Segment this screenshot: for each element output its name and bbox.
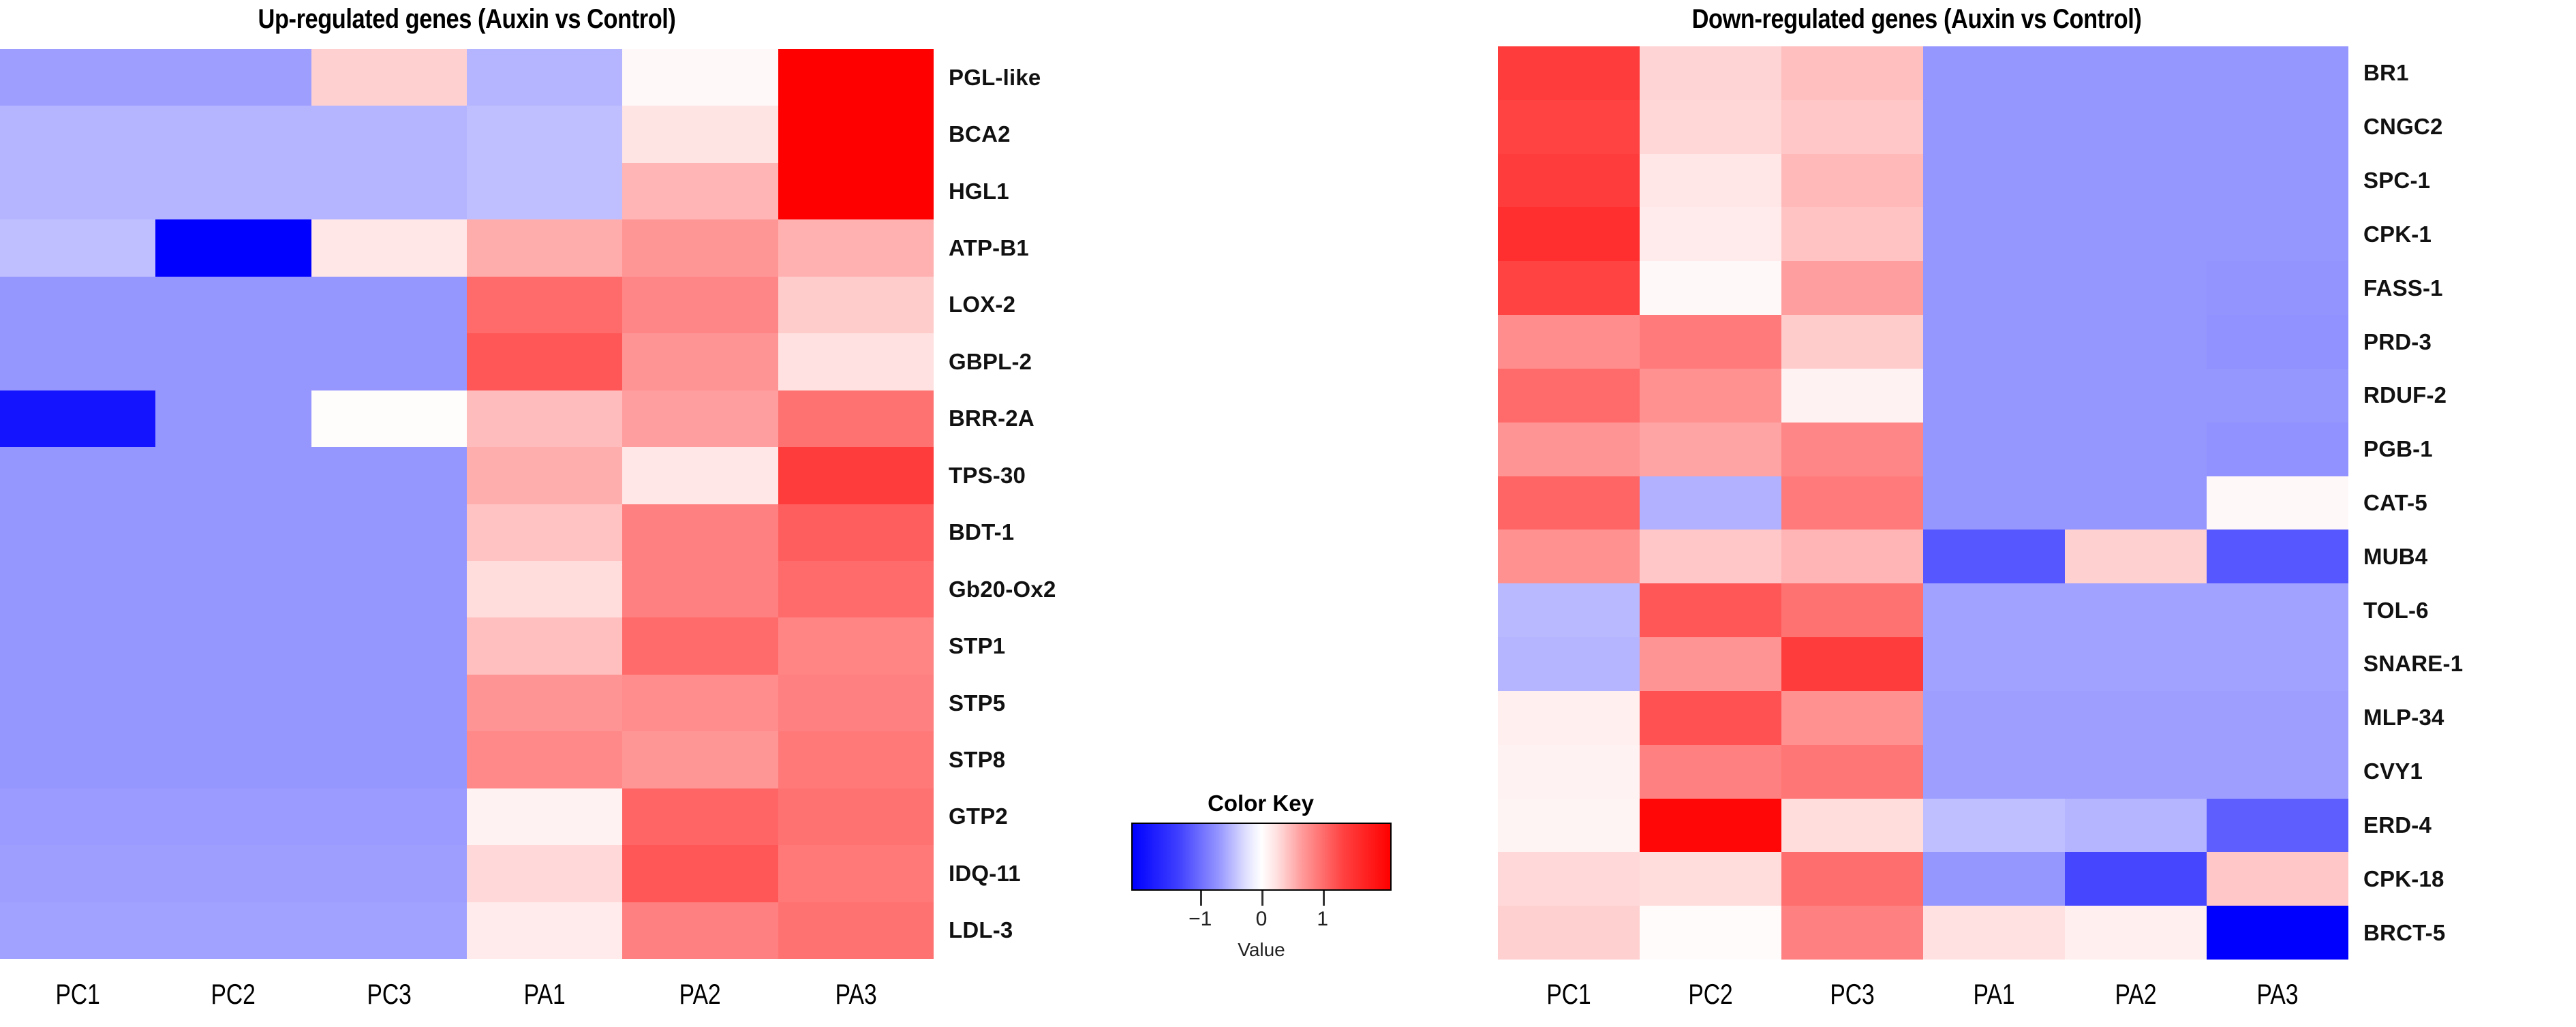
heatmap-cell [2065,476,2207,530]
row-label: CAT-5 [2363,476,2575,530]
heatmap-cell [1923,369,2065,423]
heatmap-cell [2207,423,2348,476]
color-key-tick-labels: −101 [1131,908,1392,935]
heatmap-cell [1640,46,1781,100]
color-key-tick [1261,891,1263,906]
heatmap-cell [155,845,311,902]
heatmap-cell [778,219,934,276]
heatmap-cell [0,902,155,959]
heatmap-cell [622,788,778,845]
heatmap-cell [155,49,311,106]
heatmap-cell [1498,261,1640,315]
heatmap-cell [1498,100,1640,154]
heatmap-cell [2207,261,2348,315]
heatmap-cell [622,561,778,617]
heatmap-cell [311,333,467,390]
heatmap-cell [2065,745,2207,799]
heatmap-cell [467,447,622,504]
heatmap-cell [311,163,467,219]
heatmap-cell [311,902,467,959]
heatmap-cell [155,447,311,504]
heatmap-cell [1781,100,1923,154]
heatmap-cell [622,106,778,162]
row-label: HGL1 [949,163,1153,219]
heatmap-cell [155,788,311,845]
heatmap-cell [1640,369,1781,423]
row-label: PRD-3 [2363,315,2575,369]
heatmap-cell [467,163,622,219]
heatmap-cell [1923,207,2065,261]
color-key-title: Color Key [1118,791,1404,816]
heatmap-cell [1640,745,1781,799]
heatmap-cell [0,675,155,731]
heatmap-cell [0,333,155,390]
column-label: PC2 [1654,970,1767,1018]
heatmap-cell [467,617,622,674]
column-label: PA2 [2079,970,2192,1018]
heatmap-cell [155,390,311,447]
heatmap-cell [1498,207,1640,261]
heatmap-cell [1498,745,1640,799]
heatmap-cell [0,163,155,219]
column-label: PA1 [1937,970,2051,1018]
heatmap-cell [778,788,934,845]
color-key-ticks [1131,891,1392,907]
heatmap-cell [1640,476,1781,530]
heatmap-cell [2065,530,2207,583]
heatmap-cell [467,788,622,845]
heatmap-cell [0,561,155,617]
color-key-gradient-bar [1131,823,1392,891]
heatmap-cell [2207,207,2348,261]
heatmap-cell [155,617,311,674]
heatmap-cell [0,106,155,162]
row-label: CVY1 [2363,745,2575,799]
heatmap-cell [1498,906,1640,960]
row-label: TOL-6 [2363,583,2575,637]
row-label: STP5 [949,675,1153,731]
heatmap-cell [622,902,778,959]
heatmap-cell [155,277,311,333]
heatmap-cell [2207,476,2348,530]
heatmap-cell [2207,583,2348,637]
heatmap-cell [1781,906,1923,960]
heatmap-cell [778,675,934,731]
heatmap-cell [467,561,622,617]
heatmap-cell [1640,691,1781,745]
heatmap-cell [467,219,622,276]
heatmap-grid-down-regulated [1498,46,2348,960]
heatmap-cell [0,49,155,106]
heatmap-cell [155,163,311,219]
color-key-tick-label: 0 [1256,908,1268,931]
column-labels-down-regulated: PC1PC2PC3PA1PA2PA3 [1498,970,2348,1018]
heatmap-cell [1640,799,1781,853]
heatmap-cell [0,617,155,674]
heatmap-cell [1781,691,1923,745]
heatmap-cell [778,106,934,162]
heatmap-cell [1923,423,2065,476]
row-label: MLP-34 [2363,691,2575,745]
column-label: PC2 [171,970,296,1018]
heatmap-cell [1923,637,2065,691]
row-label: Gb20-Ox2 [949,561,1153,617]
heatmap-cell [1781,583,1923,637]
heatmap-cell [1781,369,1923,423]
heatmap-cell [1923,46,2065,100]
heatmap-cell [2065,369,2207,423]
heatmap-cell [2065,154,2207,208]
heatmap-cell [2065,423,2207,476]
heatmap-cell [2207,637,2348,691]
heatmap-cell [155,333,311,390]
heatmap-cell [1640,100,1781,154]
row-label: FASS-1 [2363,261,2575,315]
column-label: PC3 [326,970,451,1018]
heatmap-cell [1923,261,2065,315]
heatmap-cell [2065,100,2207,154]
heatmap-cell [2065,207,2207,261]
heatmap-cell [2065,46,2207,100]
heatmap-cell [2065,261,2207,315]
heatmap-cell [1640,530,1781,583]
heatmap-cell [1498,46,1640,100]
heatmap-cell [622,504,778,561]
heatmap-cell [1781,261,1923,315]
row-label: SNARE-1 [2363,637,2575,691]
heatmap-cell [155,561,311,617]
heatmap-cell [2065,691,2207,745]
row-label: CPK-1 [2363,207,2575,261]
heatmap-cell [1923,852,2065,906]
heatmap-cell [0,731,155,788]
column-label: PC1 [1512,970,1625,1018]
heatmap-cell [311,106,467,162]
heatmap-cell [778,390,934,447]
heatmap-cell [2207,154,2348,208]
heatmap-cell [1923,691,2065,745]
heatmap-cell [155,219,311,276]
row-label: ERD-4 [2363,799,2575,853]
heatmap-cell [1498,369,1640,423]
heatmap-cell [778,845,934,902]
row-label: PGB-1 [2363,423,2575,476]
heatmap-cell [1498,423,1640,476]
column-label: PA3 [793,970,918,1018]
heatmap-cell [1781,423,1923,476]
row-label: BRR-2A [949,390,1153,447]
heatmap-cell [311,788,467,845]
heatmap-cell [1498,583,1640,637]
heatmap-cell [1781,207,1923,261]
column-labels-up-regulated: PC1PC2PC3PA1PA2PA3 [0,970,934,1018]
heatmap-cell [1781,745,1923,799]
row-label: BDT-1 [949,504,1153,561]
heatmap-cell [622,617,778,674]
column-label: PC3 [1796,970,1909,1018]
row-label: ATP-B1 [949,219,1153,276]
row-labels-down-regulated: BR1CNGC2SPC-1CPK-1FASS-1PRD-3RDUF-2PGB-1… [2363,46,2575,960]
heatmap-cell [155,106,311,162]
heatmap-cell [155,675,311,731]
heatmap-cell [778,333,934,390]
column-label: PA2 [638,970,763,1018]
heatmap-cell [311,447,467,504]
heatmap-cell [467,333,622,390]
row-label: TPS-30 [949,447,1153,504]
heatmap-cell [467,277,622,333]
heatmap-cell [311,561,467,617]
heatmap-cell [622,163,778,219]
heatmap-cell [467,731,622,788]
heatmap-cell [2207,852,2348,906]
heatmap-cell [467,504,622,561]
heatmap-cell [2207,799,2348,853]
heatmap-cell [1923,100,2065,154]
row-label: MUB4 [2363,530,2575,583]
heatmap-cell [2065,799,2207,853]
heatmap-cell [1923,906,2065,960]
heatmap-cell [622,49,778,106]
heatmap-cell [155,504,311,561]
heatmap-cell [1640,423,1781,476]
heatmap-cell [1923,530,2065,583]
row-label: RDUF-2 [2363,369,2575,423]
heatmap-cell [2207,100,2348,154]
row-label: SPC-1 [2363,154,2575,208]
heatmap-cell [1781,530,1923,583]
heatmap-cell [622,277,778,333]
heatmap-cell [1781,799,1923,853]
row-label: CPK-18 [2363,852,2575,906]
heatmap-cell [2207,906,2348,960]
heatmap-cell [1640,583,1781,637]
heatmap-cell [1923,583,2065,637]
panel-up-regulated: Up-regulated genes (Auxin vs Control) PG… [0,0,1159,1027]
heatmap-cell [1781,46,1923,100]
heatmap-cell [1498,799,1640,853]
heatmap-cell [2065,315,2207,369]
heatmap-cell [311,390,467,447]
heatmap-cell [0,845,155,902]
heatmap-cell [778,277,934,333]
heatmap-cell [1498,476,1640,530]
heatmap-cell [2207,691,2348,745]
row-label: PGL-like [949,49,1153,106]
heatmap-cell [467,675,622,731]
heatmap-cell [778,617,934,674]
heatmap-cell [311,219,467,276]
color-key-tick-label: −1 [1189,908,1212,931]
heatmap-cell [155,731,311,788]
heatmap-cell [1640,154,1781,208]
heatmap-cell [1640,637,1781,691]
heatmap-cell [2207,369,2348,423]
heatmap-cell [467,845,622,902]
color-key-tick [1323,891,1325,906]
color-key-tick-label: 1 [1317,908,1328,931]
row-label: GBPL-2 [949,333,1153,390]
heatmap-cell [467,106,622,162]
heatmap-cell [778,163,934,219]
panel-title-up-regulated: Up-regulated genes (Auxin vs Control) [65,0,868,38]
heatmap-cell [2065,906,2207,960]
heatmap-cell [778,731,934,788]
column-label: PA1 [482,970,607,1018]
heatmap-cell [311,617,467,674]
heatmap-cell [1781,637,1923,691]
heatmap-cell [1781,315,1923,369]
heatmap-cell [311,675,467,731]
heatmap-cell [622,447,778,504]
heatmap-cell [311,504,467,561]
heatmap-cell [311,845,467,902]
heatmap-cell [1640,906,1781,960]
heatmap-figure: Up-regulated genes (Auxin vs Control) PG… [0,0,2576,1027]
heatmap-cell [622,219,778,276]
heatmap-cell [2065,852,2207,906]
row-label: LOX-2 [949,277,1153,333]
heatmap-cell [311,731,467,788]
heatmap-cell [467,49,622,106]
column-label: PC1 [16,970,140,1018]
heatmap-cell [1498,691,1640,745]
row-label: BCA2 [949,106,1153,162]
heatmap-cell [0,504,155,561]
column-label: PA3 [2221,970,2334,1018]
heatmap-cell [0,447,155,504]
heatmap-cell [1498,852,1640,906]
heatmap-cell [467,390,622,447]
heatmap-cell [2207,745,2348,799]
heatmap-cell [1640,207,1781,261]
heatmap-cell [778,902,934,959]
panel-down-regulated: Down-regulated genes (Auxin vs Control) … [1486,0,2576,1027]
panel-title-down-regulated: Down-regulated genes (Auxin vs Control) [1546,0,2288,38]
heatmap-cell [778,561,934,617]
heatmap-cell [1923,315,2065,369]
heatmap-cell [778,504,934,561]
heatmap-cell [155,902,311,959]
row-label: BRCT-5 [2363,906,2575,960]
heatmap-cell [1923,799,2065,853]
heatmap-grid-up-regulated [0,49,934,959]
heatmap-cell [0,277,155,333]
heatmap-cell [311,277,467,333]
heatmap-cell [1640,315,1781,369]
heatmap-cell [467,902,622,959]
row-label: CNGC2 [2363,100,2575,154]
heatmap-cell [2207,46,2348,100]
row-label: BR1 [2363,46,2575,100]
heatmap-cell [1781,852,1923,906]
heatmap-cell [1498,315,1640,369]
heatmap-cell [1923,745,2065,799]
heatmap-cell [778,447,934,504]
heatmap-cell [1640,261,1781,315]
heatmap-cell [622,845,778,902]
heatmap-cell [2207,315,2348,369]
row-label: STP8 [949,731,1153,788]
heatmap-cell [1498,530,1640,583]
color-key: Color Key −101 Value [1118,791,1404,995]
heatmap-cell [1640,852,1781,906]
heatmap-cell [0,788,155,845]
heatmap-cell [1781,154,1923,208]
row-label: STP1 [949,617,1153,674]
color-key-tick [1200,891,1202,906]
heatmap-cell [1781,476,1923,530]
heatmap-cell [2065,583,2207,637]
color-key-axis-label: Value [1131,939,1392,961]
heatmap-cell [1498,637,1640,691]
heatmap-cell [622,390,778,447]
heatmap-cell [778,49,934,106]
heatmap-cell [2207,530,2348,583]
heatmap-cell [1923,476,2065,530]
heatmap-cell [311,49,467,106]
heatmap-cell [0,219,155,276]
heatmap-cell [1498,154,1640,208]
heatmap-cell [0,390,155,447]
heatmap-cell [2065,637,2207,691]
heatmap-cell [1923,154,2065,208]
heatmap-cell [622,731,778,788]
heatmap-cell [622,333,778,390]
heatmap-cell [622,675,778,731]
